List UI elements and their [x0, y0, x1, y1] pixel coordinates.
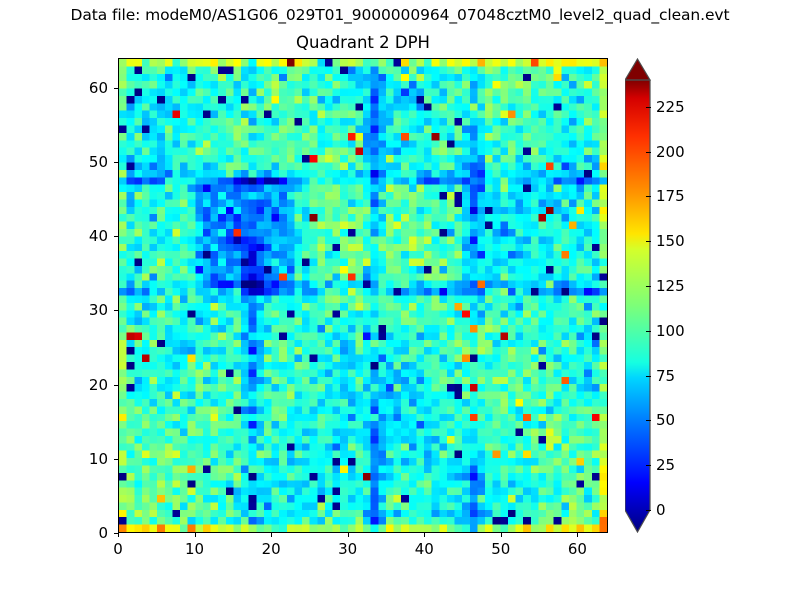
y-tick-mark — [114, 310, 118, 311]
colorbar-tick-mark — [646, 196, 651, 197]
colorbar-tick-label: 25 — [656, 456, 675, 474]
colorbar-tick-label: 125 — [656, 277, 685, 295]
x-tick-label: 60 — [568, 540, 587, 558]
x-tick-label: 40 — [415, 540, 434, 558]
figure-canvas: Data file: modeM0/AS1G06_029T01_90000009… — [0, 0, 800, 600]
colorbar-tick-label: 200 — [656, 143, 685, 161]
colorbar-tick-label: 225 — [656, 98, 685, 116]
colorbar-tick-label: 100 — [656, 322, 685, 340]
x-tick-label: 20 — [262, 540, 281, 558]
colorbar-tick-mark — [646, 420, 651, 421]
colorbar-tick-label: 150 — [656, 232, 685, 250]
y-tick-label: 10 — [66, 450, 108, 468]
x-tick-mark — [501, 533, 502, 537]
y-tick-mark — [114, 459, 118, 460]
x-tick-mark — [577, 533, 578, 537]
y-tick-label: 60 — [66, 79, 108, 97]
colorbar-tick-label: 0 — [656, 501, 666, 519]
y-tick-label: 40 — [66, 227, 108, 245]
colorbar-tick-mark — [646, 510, 651, 511]
x-tick-mark — [424, 533, 425, 537]
y-tick-label: 50 — [66, 153, 108, 171]
y-tick-mark — [114, 162, 118, 163]
x-tick-mark — [271, 533, 272, 537]
y-tick-mark — [114, 236, 118, 237]
data-file-suptitle: Data file: modeM0/AS1G06_029T01_90000009… — [0, 6, 800, 24]
colorbar-tick-label: 75 — [656, 367, 675, 385]
colorbar-tick-mark — [646, 331, 651, 332]
colorbar-tick-label: 50 — [656, 411, 675, 429]
x-tick-label: 10 — [185, 540, 204, 558]
plot-title: Quadrant 2 DPH — [118, 33, 608, 52]
y-tick-mark — [114, 88, 118, 89]
y-tick-mark — [114, 385, 118, 386]
x-tick-mark — [195, 533, 196, 537]
colorbar-tick-mark — [646, 465, 651, 466]
colorbar-tick-label: 175 — [656, 187, 685, 205]
y-tick-label: 30 — [66, 301, 108, 319]
colorbar-tick-mark — [646, 152, 651, 153]
colorbar: 0255075100125150175200225 — [625, 58, 651, 533]
colorbar-tick-mark — [646, 376, 651, 377]
colorbar-gradient — [625, 58, 651, 533]
dph-heatmap-image — [119, 59, 607, 532]
heatmap-axes — [118, 58, 608, 533]
x-tick-mark — [118, 533, 119, 537]
colorbar-tick-mark — [646, 286, 651, 287]
x-tick-label: 50 — [491, 540, 510, 558]
x-tick-label: 30 — [338, 540, 357, 558]
x-tick-mark — [348, 533, 349, 537]
colorbar-tick-mark — [646, 241, 651, 242]
x-tick-label: 0 — [113, 540, 123, 558]
y-tick-mark — [114, 533, 118, 534]
y-tick-label: 0 — [66, 524, 108, 542]
colorbar-tick-mark — [646, 107, 651, 108]
y-tick-label: 20 — [66, 376, 108, 394]
